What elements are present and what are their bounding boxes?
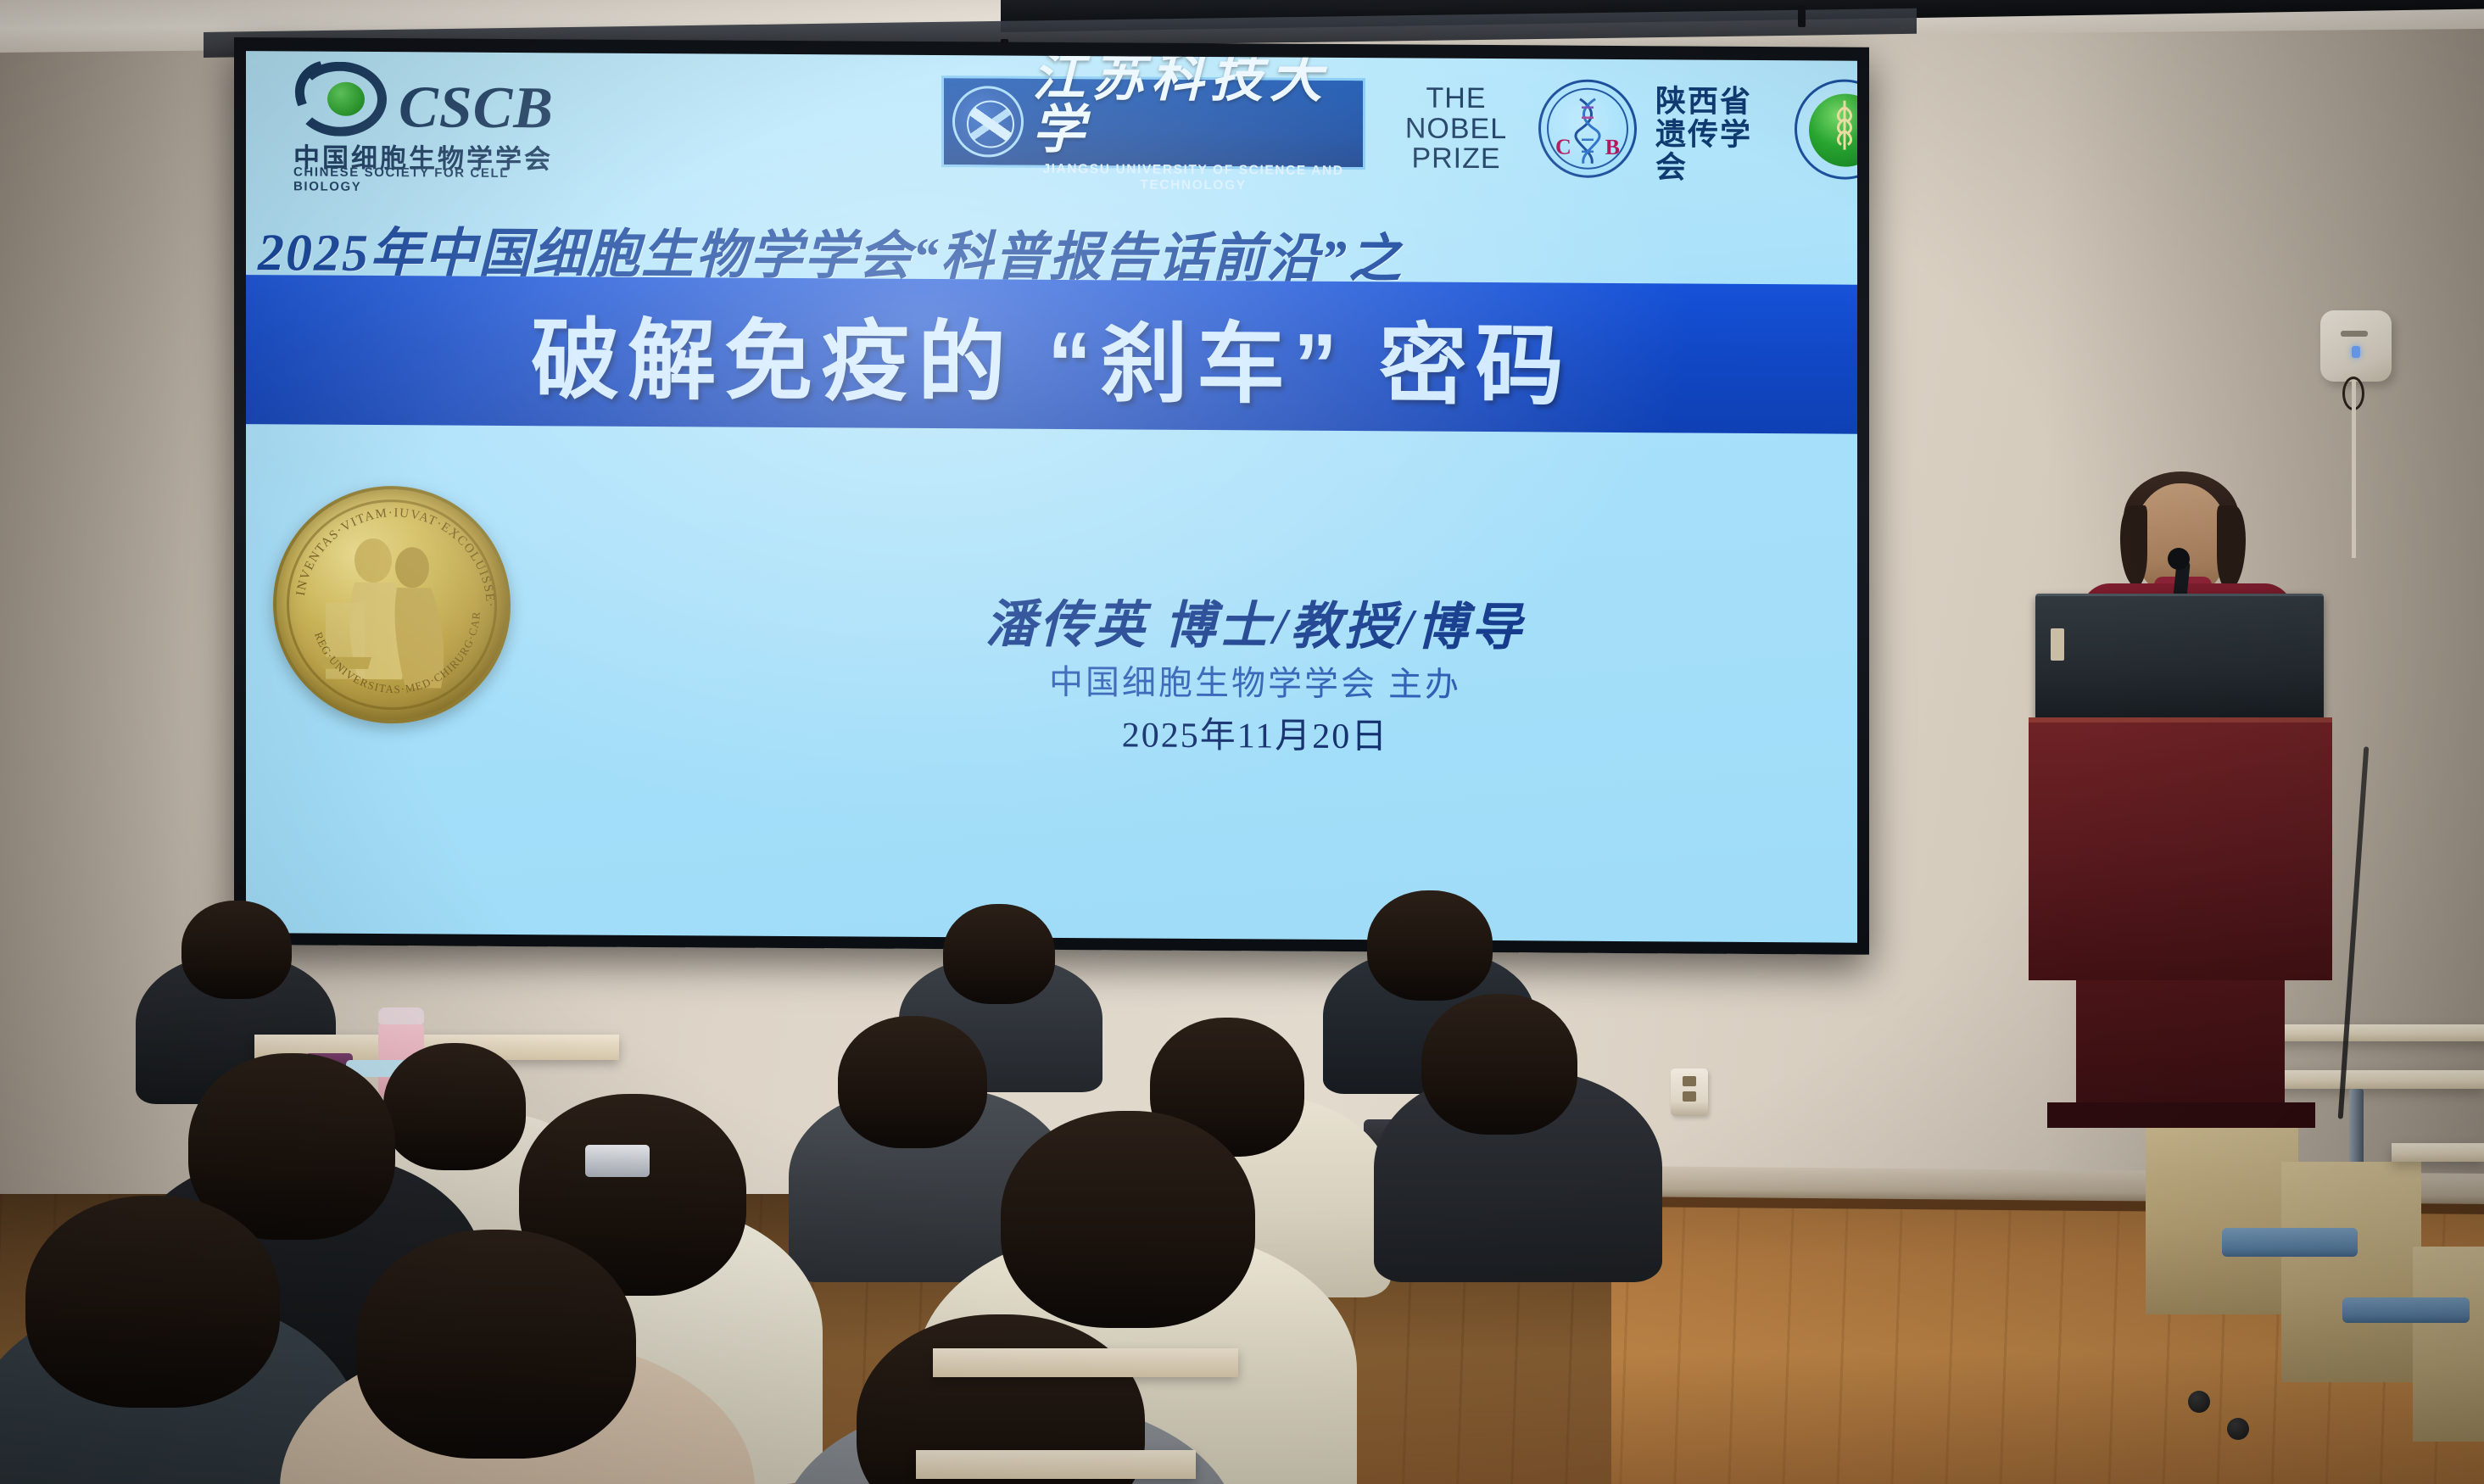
csb-letter-c: C	[1555, 135, 1571, 160]
table-modesty-panel	[2146, 1102, 2298, 1314]
lecture-hall-photo: CSCB 中国细胞生物学学会 CHINESE SOCIETY FOR CELL …	[0, 0, 2484, 1484]
slide-logo-strip: CSCB 中国细胞生物学学会 CHINESE SOCIETY FOR CELL …	[246, 51, 1857, 197]
table-modesty-panel	[2281, 1162, 2421, 1382]
laptop-side-port	[2051, 628, 2064, 661]
slide-date: 2025年11月20日	[840, 704, 1671, 761]
table-front	[2273, 1070, 2484, 1089]
ceiling-fixture-bracket	[1798, 5, 1806, 27]
nobel-prize-wordmark: THE NOBEL PRIZE	[1393, 83, 1520, 175]
wheat-icon	[1829, 98, 1857, 151]
cscb-logo: CSCB 中国细胞生物学学会 CHINESE SOCIETY FOR CELL …	[290, 58, 553, 178]
microphone-head-icon	[2168, 548, 2190, 570]
wifi-access-point-icon	[2320, 310, 2392, 382]
podium-foot	[2047, 1102, 2315, 1128]
audience-head	[383, 1043, 526, 1170]
wifi-status-led	[2352, 346, 2360, 358]
presenter-hair-left	[2120, 505, 2147, 587]
shaanxi-genetics-line-1: 陕西省	[1655, 85, 1783, 119]
cscb-abbreviation: CSCB	[399, 74, 554, 142]
csb-letter-b: B	[1605, 135, 1620, 160]
nwafu-logo	[1795, 79, 1857, 180]
outlet-jack-lower	[1683, 1091, 1696, 1102]
just-seal-icon	[952, 86, 1024, 158]
seated-audience	[0, 755, 1611, 1484]
svg-text:INVENTAS·VITAM·IUVAT·EXCOLUISS: INVENTAS·VITAM·IUVAT·EXCOLUISSE·PER·ARTE…	[276, 488, 497, 608]
nobel-line-2: NOBEL	[1393, 114, 1520, 145]
just-text-block: 江苏科技大学 JIANGSU UNIVERSITY OF SCIENCE AND…	[1032, 52, 1354, 194]
nobel-line-3: PRIZE	[1393, 144, 1520, 176]
wifi-cable	[2352, 380, 2356, 558]
presenter-hair-right	[2217, 505, 2246, 590]
audience-head	[356, 1230, 636, 1459]
outlet-jack-upper	[1683, 1076, 1696, 1086]
shaanxi-genetics-society-logo: 陕西省 遗传学会	[1655, 85, 1783, 185]
chair	[2342, 1297, 2470, 1323]
slide-main-title: 破解免疫的 “刹车” 密码	[531, 287, 1572, 422]
table-side	[2392, 1143, 2484, 1162]
shaanxi-cell-biology-logo: C B	[1538, 79, 1637, 178]
audience-desk	[933, 1348, 1238, 1377]
just-chinese-name: 江苏科技大学	[1032, 52, 1354, 159]
nobel-medal-image: INVENTAS·VITAM·IUVAT·EXCOLUISSE·PER·ARTE…	[273, 485, 511, 724]
caster-wheel	[2188, 1391, 2210, 1413]
audience-head	[1367, 890, 1493, 1001]
cscb-english-name: CHINESE SOCIETY FOR CELL BIOLOGY	[293, 165, 553, 195]
caster-wheel	[2227, 1418, 2249, 1440]
medal-upper-text: INVENTAS·VITAM·IUVAT·EXCOLUISSE·PER·ARTE…	[276, 488, 497, 608]
slide-speaker-name: 潘传英 博士/教授/博导	[840, 582, 1671, 661]
jiangsu-university-logo: 江苏科技大学 JIANGSU UNIVERSITY OF SCIENCE AND…	[941, 75, 1365, 170]
just-english-name: JIANGSU UNIVERSITY OF SCIENCE AND TECHNO…	[1032, 162, 1354, 194]
presenter-laptop	[2035, 594, 2324, 721]
audience-head	[943, 904, 1055, 1004]
podium-base	[2076, 980, 2285, 1116]
dna-helix-icon	[1573, 98, 1602, 165]
podium	[2029, 717, 2332, 980]
audience-head	[838, 1016, 987, 1148]
table-modesty-panel	[2413, 1247, 2484, 1442]
audience-head	[25, 1196, 280, 1408]
audience-head	[181, 901, 292, 999]
hair-clip	[585, 1145, 650, 1177]
slide-title-band: 破解免疫的 “刹车” 密码	[246, 275, 1857, 434]
shaanxi-genetics-line-2: 遗传学会	[1655, 118, 1783, 185]
wifi-vent-slot	[2341, 331, 2368, 337]
slide-organizer: 中国细胞生物学学会 主办	[840, 653, 1671, 707]
nobel-line-1: THE	[1393, 83, 1520, 114]
cscb-nucleus-icon	[327, 82, 365, 116]
cscb-mark-icon	[290, 58, 397, 140]
audience-desk	[916, 1450, 1196, 1479]
medal-inscription: INVENTAS·VITAM·IUVAT·EXCOLUISSE·PER·ARTE…	[276, 488, 507, 721]
bottle-cap	[378, 1007, 424, 1024]
wall-network-outlet	[1671, 1068, 1708, 1116]
audience-head	[1001, 1111, 1255, 1328]
chair	[2222, 1228, 2358, 1257]
audience-head	[1421, 994, 1577, 1135]
